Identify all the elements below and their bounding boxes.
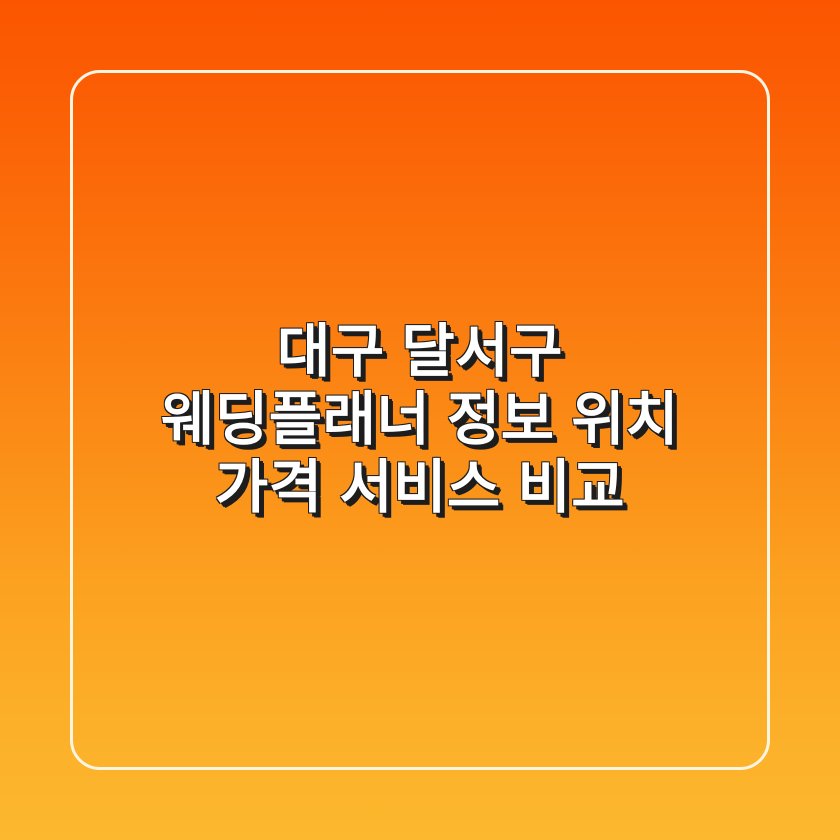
headline-block: 대구 달서구 웨딩플래너 정보 위치 가격 서비스 비교 xyxy=(0,318,840,522)
headline-line-3: 가격 서비스 비교 xyxy=(80,454,760,522)
headline-line-2: 웨딩플래너 정보 위치 xyxy=(80,386,760,454)
headline-line-1: 대구 달서구 xyxy=(80,318,760,386)
thumbnail-canvas: 대구 달서구 웨딩플래너 정보 위치 가격 서비스 비교 xyxy=(0,0,840,840)
